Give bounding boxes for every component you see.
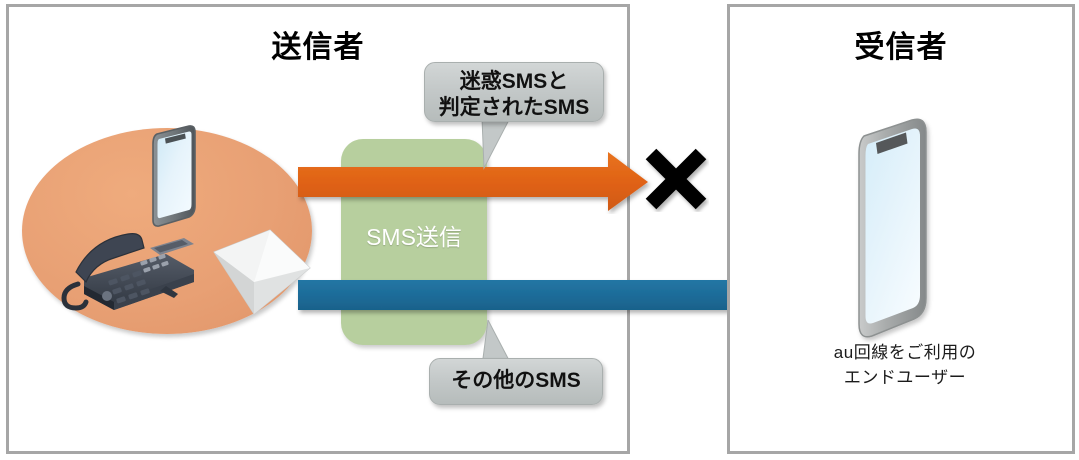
receiver-caption-line1: au回線をご利用の bbox=[760, 341, 1050, 366]
spam-sms-callout-line1: 迷惑SMSと bbox=[425, 69, 603, 95]
x-mark-icon bbox=[643, 146, 709, 212]
smartphone-icon bbox=[137, 122, 215, 230]
receiver-panel-title: 受信者 bbox=[730, 33, 1072, 63]
spam-sms-callout: 迷惑SMSと 判定されたSMS bbox=[424, 62, 604, 122]
spam-sms-callout-line2: 判定されたSMS bbox=[425, 95, 603, 121]
sender-group bbox=[22, 128, 312, 334]
receiver-smartphone-icon bbox=[846, 112, 942, 346]
other-sms-callout-line1: その他のSMS bbox=[430, 368, 602, 394]
spam-callout-tail bbox=[466, 118, 536, 170]
other-sms-callout: その他のSMS bbox=[429, 358, 603, 405]
sms-send-process-label: SMS送信 bbox=[341, 225, 487, 250]
desk-phone-icon bbox=[54, 224, 200, 320]
sender-panel-title: 送信者 bbox=[9, 33, 627, 63]
receiver-caption: au回線をご利用の エンドユーザー bbox=[760, 341, 1050, 390]
receiver-caption-line2: エンドユーザー bbox=[760, 366, 1050, 391]
diagram-canvas: 送信者 bbox=[0, 0, 1079, 460]
